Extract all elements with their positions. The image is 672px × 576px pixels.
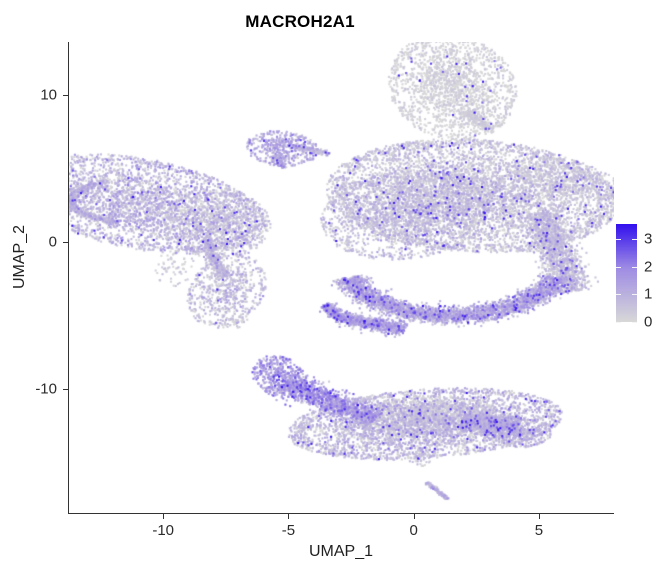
colorbar-tick-label: 2 (644, 258, 652, 275)
x-tick-label: 0 (409, 522, 417, 539)
x-tick-label: 5 (535, 522, 543, 539)
y-tick-label: -10 (0, 381, 57, 398)
page-title: MACROH2A1 (0, 12, 600, 32)
colorbar-tick-mark (632, 322, 637, 323)
colorbar-tick-mark (632, 294, 637, 295)
x-tick-mark (163, 514, 164, 519)
x-tick-label: -10 (152, 522, 174, 539)
x-tick-mark (414, 514, 415, 519)
x-tick-label: -5 (282, 522, 295, 539)
colorbar-tick-label: 0 (644, 314, 652, 331)
umap-feature-plot: MACROH2A1 -10-505100-10 UMAP_1 UMAP_2 01… (0, 0, 672, 576)
colorbar-tick-mark (616, 267, 621, 268)
color-legend: 0123 (616, 224, 672, 328)
colorbar-tick-label: 1 (644, 286, 652, 303)
x-tick-mark (288, 514, 289, 519)
colorbar-tick-mark (616, 322, 621, 323)
y-axis-line (68, 42, 69, 514)
x-axis-line (68, 513, 614, 514)
colorbar-tick-mark (616, 294, 621, 295)
y-tick-mark (63, 95, 68, 96)
x-tick-mark (539, 514, 540, 519)
colorbar-tick-mark (632, 239, 637, 240)
colorbar-tick-label: 3 (644, 231, 652, 248)
y-axis-label: UMAP_2 (11, 177, 29, 337)
y-tick-label: 10 (0, 86, 57, 103)
colorbar-tick-mark (616, 239, 621, 240)
y-tick-mark (63, 389, 68, 390)
y-tick-mark (63, 242, 68, 243)
colorbar-tick-mark (632, 267, 637, 268)
scatter-plot-canvas (68, 42, 614, 513)
x-axis-label: UMAP_1 (68, 543, 614, 561)
